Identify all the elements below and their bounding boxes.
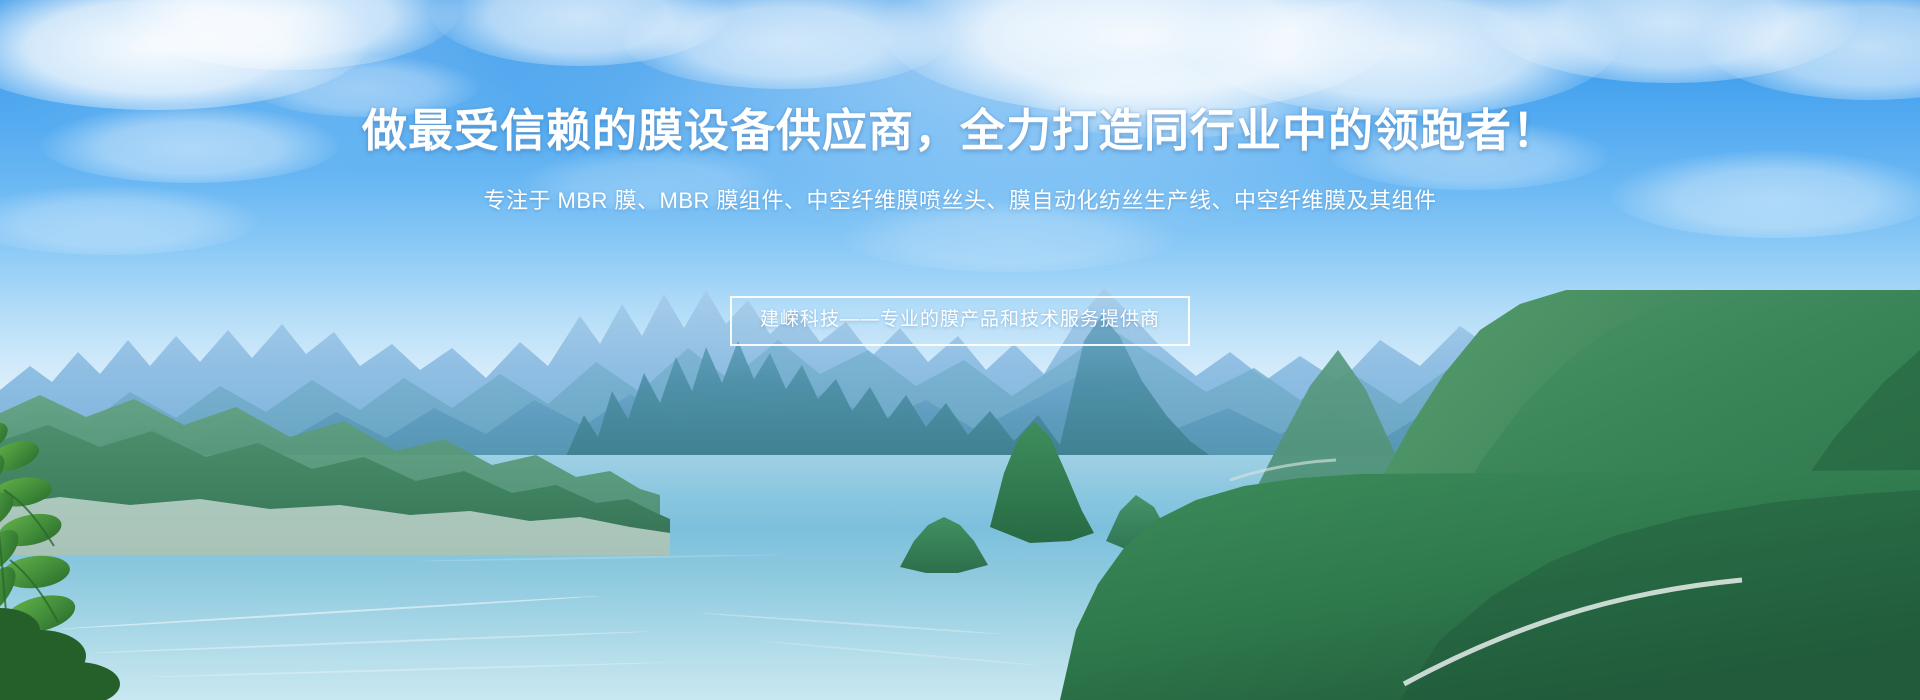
page-title: 做最受信赖的膜设备供应商，全力打造同行业中的领跑者！: [0, 103, 1920, 159]
tagline-container: 建嵘科技——专业的膜产品和技术服务提供商: [0, 296, 1920, 346]
hero-banner: 做最受信赖的膜设备供应商，全力打造同行业中的领跑者！ 专注于 MBR 膜、MBR…: [0, 0, 1920, 700]
lake-water: [0, 455, 1920, 700]
tagline-badge: 建嵘科技——专业的膜产品和技术服务提供商: [730, 296, 1190, 346]
hero-subtitle: 专注于 MBR 膜、MBR 膜组件、中空纤维膜喷丝头、膜自动化纺丝生产线、中空纤…: [0, 185, 1920, 217]
